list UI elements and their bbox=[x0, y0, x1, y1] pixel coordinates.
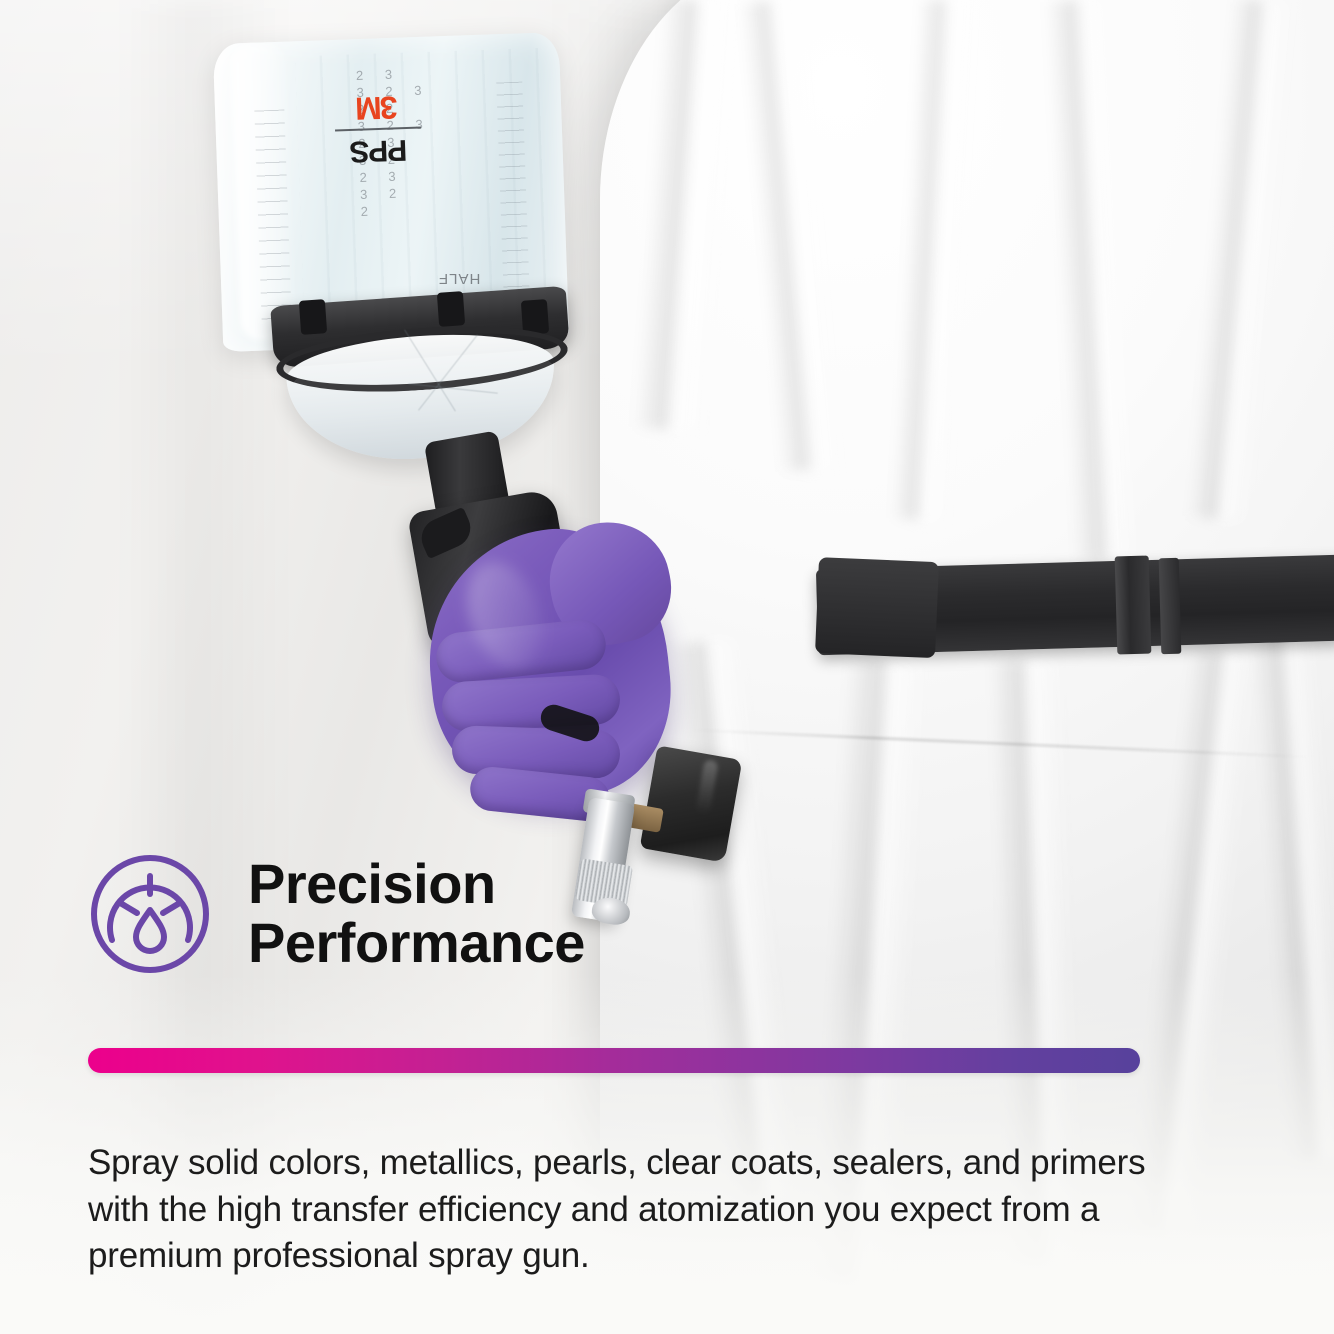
product-photo: 2 3 3 2 3 3 2 3 2 3 2 3 3 2 2 3 3 2 2 PP… bbox=[0, 0, 1334, 1334]
precision-gauge-droplet-icon bbox=[88, 852, 212, 976]
branding-divider bbox=[335, 126, 421, 131]
pps-wordmark: PPS bbox=[318, 133, 439, 167]
feature-header-row: Precision Performance bbox=[88, 852, 1248, 976]
feature-headline-block: Precision Performance bbox=[88, 852, 1248, 976]
product-feature-card: 2 3 3 2 3 3 2 3 2 3 2 3 3 2 2 3 3 2 2 PP… bbox=[0, 0, 1334, 1334]
feature-description: Spray solid colors, metallics, pearls, c… bbox=[88, 1140, 1178, 1280]
page-title: Precision Performance bbox=[248, 855, 585, 973]
collar-notch bbox=[299, 299, 327, 335]
belt-buckle bbox=[1115, 556, 1152, 655]
belt-keeper bbox=[1159, 558, 1182, 655]
air-pressure-gauge bbox=[640, 745, 743, 862]
collar-notch bbox=[437, 291, 465, 327]
cup-branding: PPS 3M bbox=[317, 90, 439, 167]
cup-half-marking: HALF bbox=[438, 270, 480, 287]
utility-belt bbox=[816, 555, 1334, 656]
gradient-divider bbox=[88, 1048, 1140, 1073]
3m-logo: 3M bbox=[317, 90, 438, 126]
